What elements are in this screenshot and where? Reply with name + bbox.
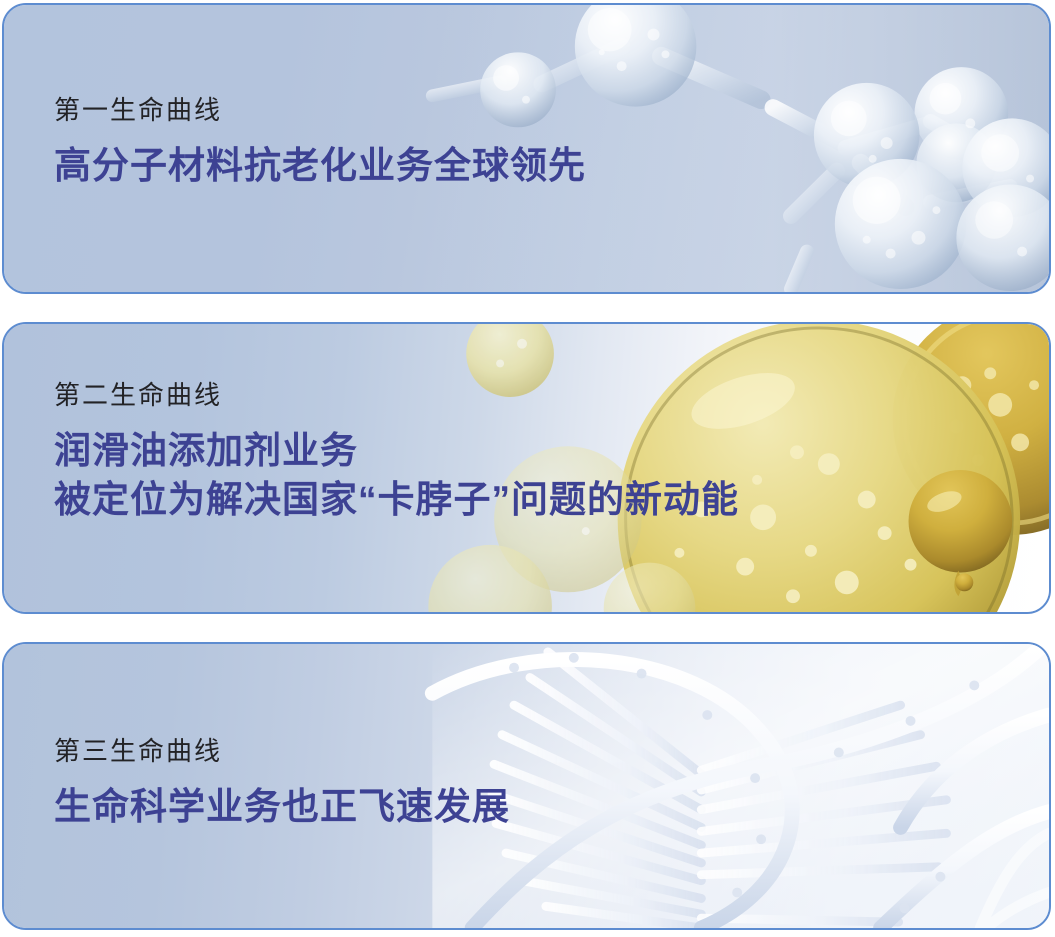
headline-line: 润滑油添加剂业务	[54, 426, 1019, 475]
headline-line: 高分子材料抗老化业务全球领先	[54, 141, 1019, 190]
card-headline: 生命科学业务也正飞速发展	[54, 782, 1019, 831]
card-headline: 高分子材料抗老化业务全球领先	[54, 141, 1019, 190]
card-headline: 润滑油添加剂业务 被定位为解决国家“卡脖子”问题的新动能	[54, 426, 1019, 524]
headline-line: 生命科学业务也正飞速发展	[54, 782, 1019, 831]
card-text-block: 第三生命曲线 生命科学业务也正飞速发展	[54, 735, 1019, 831]
card-eyebrow: 第三生命曲线	[54, 735, 1019, 768]
life-curve-card-first[interactable]: 第一生命曲线 高分子材料抗老化业务全球领先	[2, 3, 1051, 294]
life-curve-card-third[interactable]: 第三生命曲线 生命科学业务也正飞速发展	[2, 642, 1051, 930]
card-eyebrow: 第二生命曲线	[54, 379, 1019, 412]
headline-line: 被定位为解决国家“卡脖子”问题的新动能	[54, 475, 1019, 524]
slide-canvas: 第一生命曲线 高分子材料抗老化业务全球领先	[0, 0, 1055, 937]
life-curve-card-second[interactable]: 第二生命曲线 润滑油添加剂业务 被定位为解决国家“卡脖子”问题的新动能	[2, 322, 1051, 614]
card-eyebrow: 第一生命曲线	[54, 94, 1019, 127]
card-text-block: 第一生命曲线 高分子材料抗老化业务全球领先	[54, 94, 1019, 190]
card-text-block: 第二生命曲线 润滑油添加剂业务 被定位为解决国家“卡脖子”问题的新动能	[54, 379, 1019, 524]
